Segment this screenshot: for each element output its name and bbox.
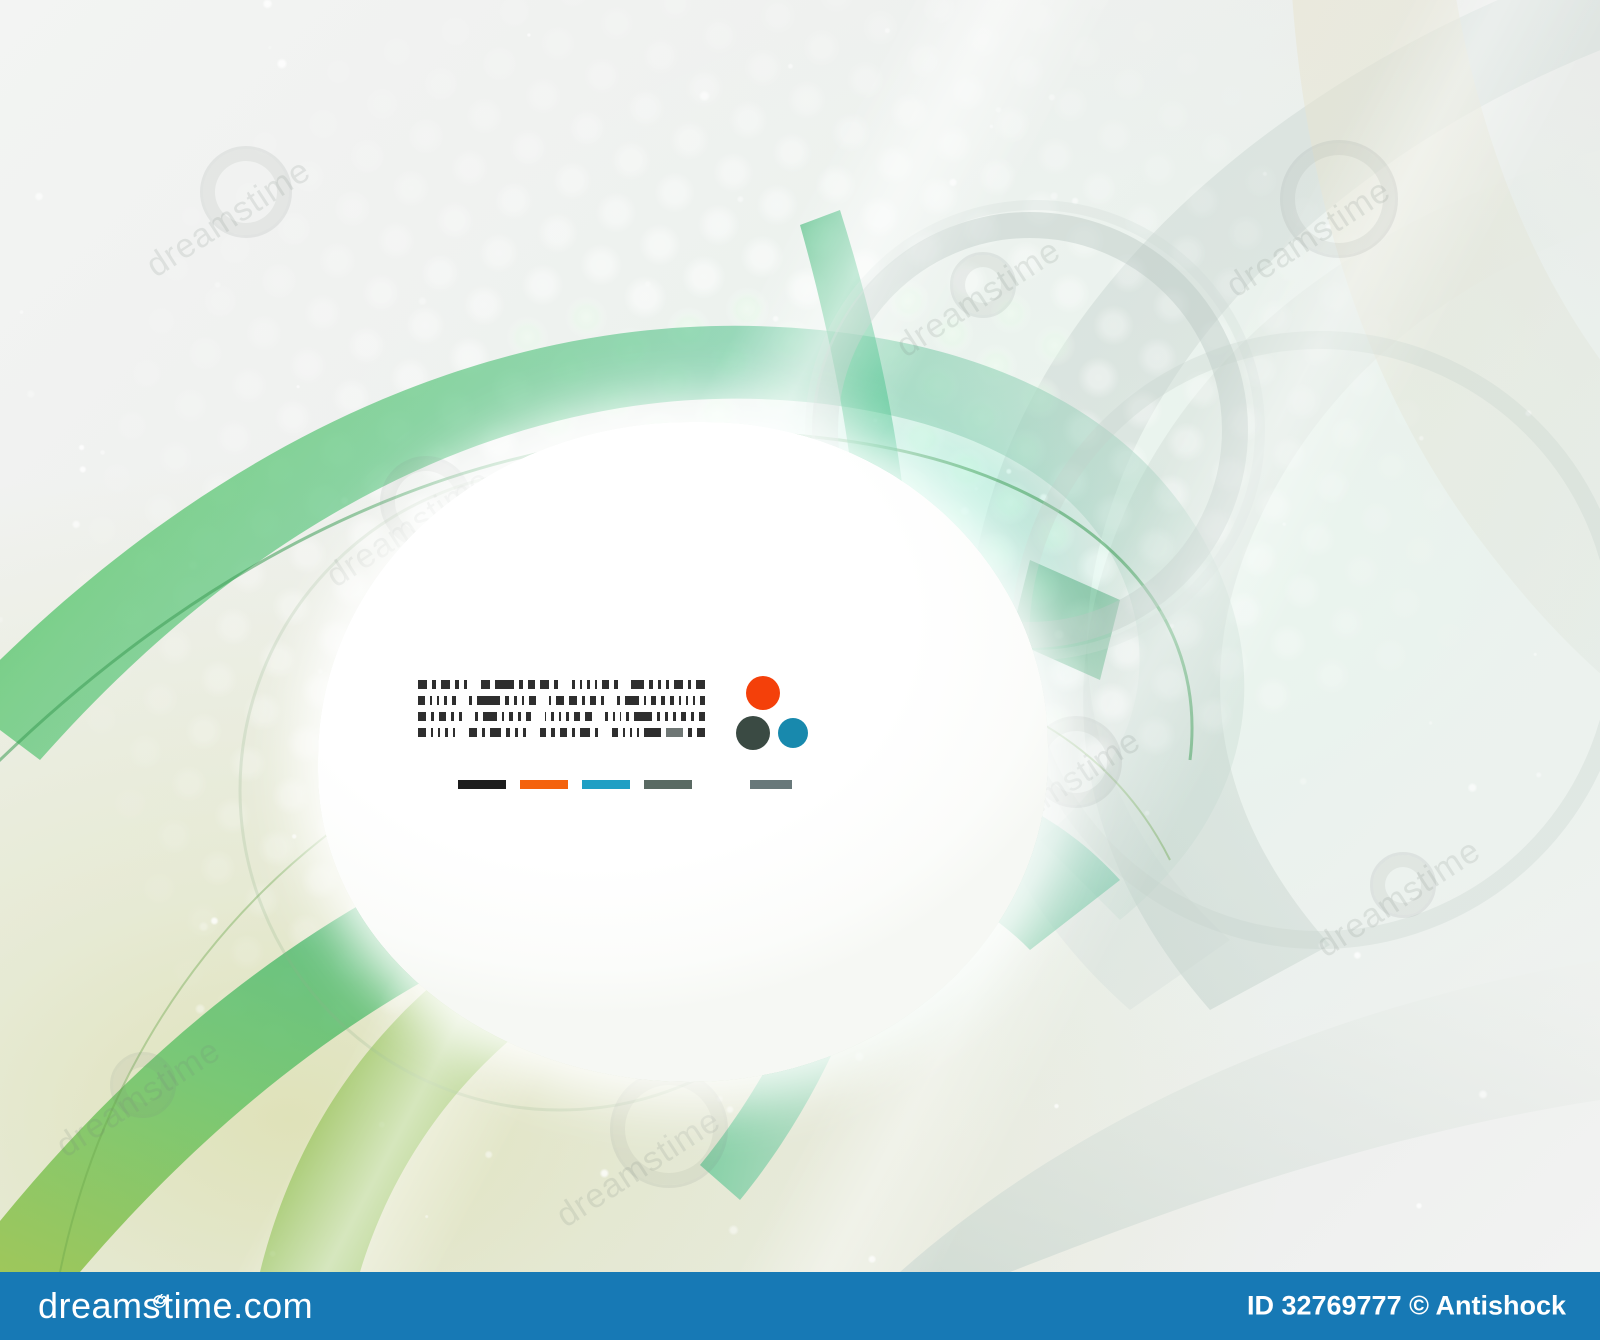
- placeholder-word: [526, 712, 532, 721]
- placeholder-word: [580, 680, 582, 689]
- placeholder-word: [697, 728, 705, 737]
- placeholder-word: [699, 712, 705, 721]
- bar-slate: [644, 780, 692, 789]
- placeholder-word: [439, 712, 446, 721]
- placeholder-word: [431, 712, 434, 721]
- placeholder-word: [551, 728, 555, 737]
- placeholder-word: [693, 696, 695, 705]
- placeholder-text-line: [418, 712, 710, 721]
- artwork-area: dreamstimedreamstimedreamstimedreamstime…: [0, 0, 1600, 1272]
- placeholder-word: [515, 728, 518, 737]
- placeholder-word: [551, 712, 554, 721]
- placeholder-word: [566, 712, 568, 721]
- placeholder-space: [531, 728, 535, 737]
- watermark-spiral-icon: [200, 146, 292, 238]
- bar-black: [458, 780, 506, 789]
- placeholder-word: [464, 680, 467, 689]
- placeholder-word: [431, 728, 433, 737]
- placeholder-word: [432, 680, 436, 689]
- placeholder-word: [691, 712, 694, 721]
- placeholder-word: [549, 696, 551, 705]
- placeholder-word: [523, 728, 526, 737]
- placeholder-word: [688, 728, 692, 737]
- placeholder-word: [572, 680, 575, 689]
- placeholder-word: [483, 712, 497, 721]
- watermark-spiral-icon: [1280, 140, 1398, 258]
- placeholder-word: [455, 680, 459, 689]
- placeholder-text-line: [418, 680, 710, 689]
- placeholder-word: [505, 696, 509, 705]
- color-dot-cluster: [730, 676, 816, 754]
- placeholder-word: [469, 728, 477, 737]
- placeholder-word: [658, 680, 661, 689]
- dot-teal: [778, 718, 808, 748]
- placeholder-word: [626, 712, 629, 721]
- placeholder-word: [418, 712, 426, 721]
- brand-suffix: ime.com: [174, 1285, 314, 1326]
- placeholder-word: [518, 712, 521, 721]
- placeholder-word: [630, 728, 633, 737]
- placeholder-space: [460, 728, 464, 737]
- placeholder-word: [666, 680, 669, 689]
- placeholder-word: [661, 696, 664, 705]
- placeholder-word: [700, 696, 705, 705]
- placeholder-word: [614, 680, 618, 689]
- placeholder-word: [666, 728, 683, 737]
- watermark-spiral-icon: [610, 1070, 728, 1188]
- stock-image-canvas: dreamstimedreamstimedreamstimedreamstime…: [0, 0, 1600, 1340]
- placeholder-word: [617, 696, 620, 705]
- placeholder-word: [481, 680, 490, 689]
- placeholder-word: [459, 712, 462, 721]
- dreamstime-logo: dreams time.com: [38, 1285, 313, 1327]
- placeholder-word: [528, 680, 536, 689]
- placeholder-word: [595, 680, 597, 689]
- placeholder-text-line: [418, 696, 710, 705]
- watermark-spiral-icon: [1370, 852, 1436, 918]
- placeholder-word: [514, 696, 516, 705]
- dot-dark-green: [736, 716, 770, 750]
- placeholder-space: [597, 712, 600, 721]
- placeholder-word: [631, 680, 644, 689]
- placeholder-word: [545, 712, 547, 721]
- dot-orange: [746, 676, 780, 710]
- placeholder-word: [580, 728, 589, 737]
- placeholder-word: [595, 728, 598, 737]
- placeholder-word: [506, 728, 510, 737]
- placeholder-word: [444, 696, 447, 705]
- placeholder-word: [605, 712, 607, 721]
- bar-gray-far: [750, 780, 792, 789]
- placeholder-word: [437, 696, 439, 705]
- placeholder-word: [590, 696, 597, 705]
- placeholder-word: [612, 728, 618, 737]
- placeholder-word: [688, 680, 691, 689]
- placeholder-word: [495, 680, 514, 689]
- watermark-spiral-icon: [110, 1052, 176, 1118]
- placeholder-word: [582, 696, 585, 705]
- placeholder-word: [620, 712, 622, 721]
- placeholder-word: [519, 680, 523, 689]
- placeholder-word: [673, 712, 676, 721]
- placeholder-word: [445, 728, 448, 737]
- placeholder-word: [502, 712, 504, 721]
- placeholder-space: [467, 712, 470, 721]
- placeholder-word: [649, 680, 653, 689]
- placeholder-space: [609, 696, 612, 705]
- placeholder-word: [681, 712, 687, 721]
- placeholder-word: [574, 712, 580, 721]
- placeholder-word: [452, 696, 456, 705]
- placeholder-space: [623, 680, 627, 689]
- brand-letter-t: t: [163, 1285, 174, 1326]
- color-swatch-bars: [458, 780, 838, 789]
- placeholder-word: [529, 696, 536, 705]
- placeholder-text-block: [418, 680, 710, 744]
- brand-prefix: dreams: [38, 1285, 161, 1326]
- placeholder-text-line: [418, 728, 710, 737]
- placeholder-word: [651, 696, 656, 705]
- placeholder-word: [522, 696, 525, 705]
- placeholder-word: [451, 712, 454, 721]
- placeholder-word: [540, 680, 549, 689]
- placeholder-word: [634, 712, 652, 721]
- placeholder-word: [453, 728, 455, 737]
- placeholder-word: [686, 696, 688, 705]
- placeholder-space: [472, 680, 476, 689]
- placeholder-word: [696, 680, 705, 689]
- placeholder-space: [541, 696, 544, 705]
- placeholder-word: [665, 712, 667, 721]
- placeholder-word: [670, 696, 674, 705]
- placeholder-word: [601, 696, 604, 705]
- placeholder-word: [475, 712, 477, 721]
- placeholder-space: [603, 728, 607, 737]
- placeholder-word: [560, 728, 567, 737]
- placeholder-word: [438, 728, 440, 737]
- placeholder-word: [572, 728, 576, 737]
- panel-content: [418, 672, 838, 812]
- placeholder-word: [674, 680, 683, 689]
- image-id-credit: ID 32769777 © Antishock: [1247, 1291, 1566, 1322]
- placeholder-word: [430, 696, 432, 705]
- placeholder-word: [657, 712, 660, 721]
- placeholder-word: [625, 696, 639, 705]
- placeholder-word: [482, 728, 486, 737]
- placeholder-word: [613, 712, 615, 721]
- placeholder-word: [554, 680, 558, 689]
- dreamstime-footer-bar: dreams time.com ID 32769777 © Antishock: [0, 1272, 1600, 1340]
- watermark-spiral-icon: [950, 252, 1016, 318]
- placeholder-word: [509, 712, 513, 721]
- placeholder-word: [587, 680, 590, 689]
- placeholder-word: [556, 696, 564, 705]
- placeholder-space: [563, 680, 567, 689]
- placeholder-word: [623, 728, 625, 737]
- placeholder-word: [469, 696, 472, 705]
- placeholder-word: [441, 680, 450, 689]
- placeholder-word: [679, 696, 681, 705]
- placeholder-word: [477, 696, 500, 705]
- placeholder-word: [644, 728, 661, 737]
- placeholder-word: [637, 728, 639, 737]
- placeholder-word: [418, 696, 425, 705]
- placeholder-word: [559, 712, 561, 721]
- placeholder-word: [418, 728, 426, 737]
- placeholder-word: [602, 680, 609, 689]
- placeholder-word: [644, 696, 647, 705]
- placeholder-word: [540, 728, 546, 737]
- bar-teal: [582, 780, 630, 789]
- placeholder-word: [418, 680, 427, 689]
- placeholder-word: [585, 712, 593, 721]
- placeholder-space: [461, 696, 464, 705]
- placeholder-space: [536, 712, 539, 721]
- placeholder-word: [490, 728, 501, 737]
- placeholder-word: [569, 696, 577, 705]
- bar-orange: [520, 780, 568, 789]
